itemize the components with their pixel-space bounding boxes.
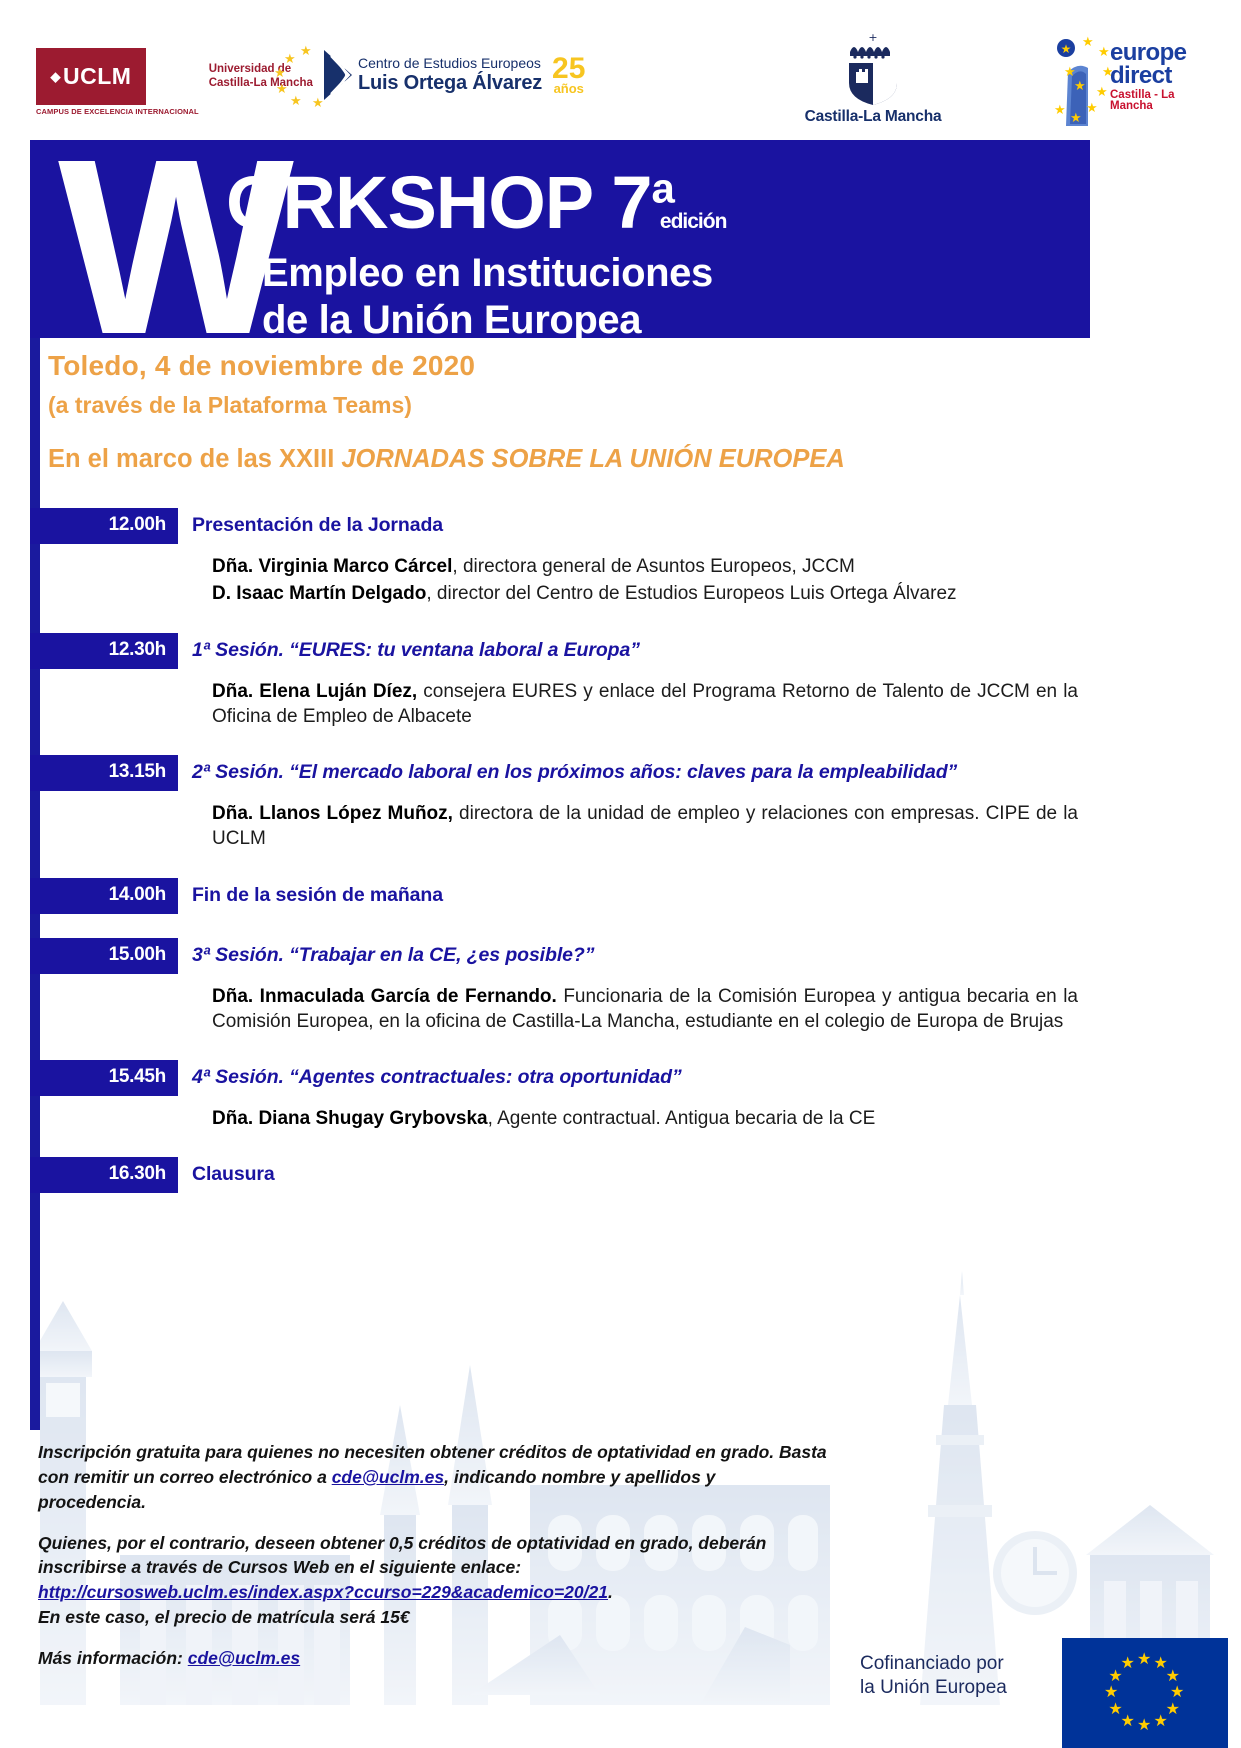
cee-text: Centro de Estudios Europeos Luis Ortega … <box>358 56 542 93</box>
speaker-name: Dña. Inmaculada García de Fernando. <box>212 986 557 1007</box>
eu-star-icon: ★ <box>1170 1685 1184 1701</box>
schedule-slot-title: Presentación de la Jornada <box>178 508 1090 544</box>
eu-cofinance-caption: Cofinanciado por la Unión Europea <box>860 1652 1060 1701</box>
svg-text:★: ★ <box>1096 85 1108 100</box>
svg-text:★: ★ <box>1070 111 1082 126</box>
cursos-web-link[interactable]: http://cursosweb.uclm.es/index.aspx?ccur… <box>38 1582 608 1602</box>
cee-anniv-word: años <box>552 83 585 95</box>
schedule-speaker-list: Dña. Virginia Marco Cárcel, directora ge… <box>212 544 1078 607</box>
uclm-wordmark: ◆ UCLM <box>36 48 146 105</box>
schedule-gap <box>30 854 1090 878</box>
speaker-role: , director del Centro de Estudios Europe… <box>426 583 956 604</box>
schedule-slot-header: 12.00h Presentación de la Jornada <box>30 508 1090 544</box>
speaker-entry: Dña. Inmaculada García de Fernando. Func… <box>212 984 1078 1035</box>
cee-line1: Centro de Estudios Europeos <box>358 56 542 71</box>
schedule-slot-1545: 15.45h 4ª Sesión. “Agentes contractuales… <box>30 1060 1090 1131</box>
uclm-caption: CAMPUS DE EXCELENCIA INTERNACIONAL <box>36 107 199 116</box>
svg-text:★: ★ <box>1061 42 1072 56</box>
eu-flag: ★★★★★★★★★★★★ <box>1062 1638 1228 1748</box>
eu-star-icon: ★ <box>1137 1718 1151 1734</box>
eu-caption-line2: la Unión Europea <box>860 1676 1060 1700</box>
tuition-price-text: En este caso, el precio de matrícula ser… <box>38 1607 410 1627</box>
page-subtitle: Empleo en Instituciones de la Unión Euro… <box>262 250 713 338</box>
schedule-slot-header: 13.15h 2ª Sesión. “El mercado laboral en… <box>30 755 1090 791</box>
schedule-time-chip: 13.15h <box>30 755 178 791</box>
schedule-slot-header: 14.00h Fin de la sesión de mañana <box>30 878 1090 914</box>
schedule-time-chip: 15.45h <box>30 1060 178 1096</box>
speaker-name: Dña. Elena Luján Díez, <box>212 681 417 702</box>
cee-anniversary-badge: 25 años <box>552 55 585 96</box>
speaker-entry: Dña. Llanos López Muñoz, directora de la… <box>212 801 1078 852</box>
schedule-gap <box>30 1133 1090 1157</box>
page-title: ORKSHOP 7aedición <box>226 166 726 240</box>
schedule-slot-title: 2ª Sesión. “El mercado laboral en los pr… <box>178 755 1090 791</box>
free-registration-lead: Inscripción gratuita <box>38 1442 200 1462</box>
eu-star-icon: ★ <box>1154 1714 1168 1730</box>
schedule-gap <box>30 609 1090 633</box>
event-date: Toledo, 4 de noviembre de 2020 <box>48 350 1088 382</box>
registration-paragraph-credits: Quienes, por el contrario, deseen obtene… <box>38 1531 828 1630</box>
svg-text:★: ★ <box>1064 65 1076 80</box>
schedule-slot-1230: 12.30h 1ª Sesión. “EURES: tu ventana lab… <box>30 633 1090 730</box>
schedule-slot-1500: 15.00h 3ª Sesión. “Trabajar en la CE, ¿e… <box>30 938 1090 1035</box>
jccm-shield-icon: + <box>836 30 910 106</box>
svg-text:★: ★ <box>1082 36 1094 50</box>
schedule-time-chip: 14.00h <box>30 878 178 914</box>
eu-star-icon: ★ <box>1108 1702 1122 1718</box>
jccm-logo: + Castilla-La Mancha <box>778 30 968 126</box>
schedule-speaker-list: Dña. Inmaculada García de Fernando. Func… <box>212 974 1078 1035</box>
svg-text:★: ★ <box>1054 103 1066 118</box>
schedule-slot-header: 15.00h 3ª Sesión. “Trabajar en la CE, ¿e… <box>30 938 1090 974</box>
frame-prefix: En el marco de las XXIII <box>48 445 341 473</box>
europe-direct-emblem-icon: ★ ★ ★ ★ ★ ★ ★ ★ ★ ★ <box>1052 36 1112 132</box>
email-link-more-info[interactable]: cde@uclm.es <box>188 1648 300 1668</box>
speaker-role: , Agente contractual. Antigua becaria de… <box>488 1108 876 1129</box>
europe-direct-line2: direct <box>1110 65 1212 88</box>
schedule-gap <box>30 1036 1090 1060</box>
speaker-entry: Dña. Virginia Marco Cárcel, directora ge… <box>212 554 1078 579</box>
schedule-slot-1200: 12.00h Presentación de la Jornada Dña. V… <box>30 508 1090 607</box>
svg-text:★: ★ <box>1098 45 1110 60</box>
speaker-entry: D. Isaac Martín Delgado, director del Ce… <box>212 581 1078 606</box>
cee-logo: ★ ★ ★ ★ ★ ★ Centro de Estudios Europeos … <box>272 44 585 106</box>
schedule-slot-1315: 13.15h 2ª Sesión. “El mercado laboral en… <box>30 755 1090 852</box>
schedule-slot-1630: 16.30h Clausura <box>30 1157 1090 1193</box>
uclm-mark-text: UCLM <box>63 63 131 90</box>
schedule-slot-header: 12.30h 1ª Sesión. “EURES: tu ventana lab… <box>30 633 1090 669</box>
eu-star-icon: ★ <box>1121 1656 1135 1672</box>
title-banner: W ORKSHOP 7aedición Empleo en Institucio… <box>30 140 1090 338</box>
svg-text:★: ★ <box>1086 101 1098 116</box>
schedule-time-chip: 12.30h <box>30 633 178 669</box>
subtitle-line1: Empleo en Instituciones <box>262 250 713 297</box>
eu-stars-arc-icon: ★ ★ ★ ★ ★ ★ <box>272 44 328 106</box>
svg-text:+: + <box>868 31 877 44</box>
cee-line2: Luis Ortega Álvarez <box>358 72 542 94</box>
speaker-name: Dña. Diana Shugay Grybovska <box>212 1108 488 1129</box>
schedule-speaker-list: Dña. Diana Shugay Grybovska, Agente cont… <box>212 1096 1078 1131</box>
schedule-slot-1400: 14.00h Fin de la sesión de mañana <box>30 878 1090 914</box>
eu-star-icon: ★ <box>1137 1652 1151 1668</box>
title-ordinal-superscript: a <box>652 164 674 211</box>
cee-anniv-number: 25 <box>552 55 585 84</box>
schedule-speaker-list: Dña. Llanos López Muñoz, directora de la… <box>212 791 1078 852</box>
schedule-gap <box>30 731 1090 755</box>
title-edition-label: edición <box>660 210 727 233</box>
eu-caption-line1: Cofinanciado por <box>860 1652 1060 1676</box>
schedule-slot-title: 3ª Sesión. “Trabajar en la CE, ¿es posib… <box>178 938 1090 974</box>
registration-paragraph-free: Inscripción gratuita para quienes no nec… <box>38 1440 828 1515</box>
schedule-slot-title: 1ª Sesión. “EURES: tu ventana laboral a … <box>178 633 1090 669</box>
more-info-paragraph: Más información: cde@uclm.es <box>38 1646 828 1671</box>
credits-tail: . <box>608 1582 613 1602</box>
schedule-slot-title: 4ª Sesión. “Agentes contractuales: otra … <box>178 1060 1090 1096</box>
speaker-role: , directora general de Asuntos Europeos,… <box>452 556 854 577</box>
schedule-slot-title: Clausura <box>178 1157 1090 1193</box>
registration-info: Inscripción gratuita para quienes no nec… <box>38 1440 828 1687</box>
credits-text: Quienes, por el contrario, deseen obtene… <box>38 1533 766 1578</box>
event-meta: Toledo, 4 de noviembre de 2020 (a través… <box>48 350 1088 419</box>
europe-direct-region: Castilla - La Mancha <box>1110 90 1212 112</box>
schedule-list: 12.00h Presentación de la Jornada Dña. V… <box>30 508 1090 1193</box>
event-platform: (a través de la Plataforma Teams) <box>48 392 1088 419</box>
eu-star-icon: ★ <box>1166 1669 1180 1685</box>
schedule-slot-header: 16.30h Clausura <box>30 1157 1090 1193</box>
schedule-slot-header: 15.45h 4ª Sesión. “Agentes contractuales… <box>30 1060 1090 1096</box>
speaker-name: D. Isaac Martín Delgado <box>212 583 426 604</box>
subtitle-line2: de la Unión Europea <box>262 297 713 338</box>
svg-text:★: ★ <box>1074 79 1086 94</box>
eu-flag-field: ★★★★★★★★★★★★ <box>1062 1638 1228 1748</box>
schedule-gap <box>30 914 1090 938</box>
schedule-time-chip: 12.00h <box>30 508 178 544</box>
speaker-name: Dña. Virginia Marco Cárcel <box>212 556 452 577</box>
speaker-name: Dña. Llanos López Muñoz, <box>212 803 453 824</box>
more-info-label: Más información: <box>38 1648 188 1668</box>
jccm-label: Castilla-La Mancha <box>778 108 968 126</box>
eu-star-icon: ★ <box>1104 1685 1118 1701</box>
schedule-time-chip: 16.30h <box>30 1157 178 1193</box>
title-main-text: ORKSHOP 7 <box>226 161 652 244</box>
schedule-slot-title: Fin de la sesión de mañana <box>178 878 1090 914</box>
diamond-icon: ◆ <box>51 69 62 85</box>
email-link-cde[interactable]: cde@uclm.es <box>332 1467 444 1487</box>
speaker-entry: Dña. Diana Shugay Grybovska, Agente cont… <box>212 1106 1078 1131</box>
schedule-speaker-list: Dña. Elena Luján Díez, consejera EURES y… <box>212 669 1078 730</box>
header-logo-bar: ◆ UCLM CAMPUS DE EXCELENCIA INTERNACIONA… <box>0 0 1241 140</box>
europe-direct-logo: ★ ★ ★ ★ ★ ★ ★ ★ ★ ★ europe direct Castil… <box>1052 36 1212 132</box>
schedule-time-chip: 15.00h <box>30 938 178 974</box>
event-frame-note: En el marco de las XXIII JORNADAS SOBRE … <box>48 445 1108 474</box>
cee-fan-icon <box>322 48 354 102</box>
frame-italic: JORNADAS SOBRE LA UNIÓN EUROPEA <box>341 445 844 473</box>
speaker-entry: Dña. Elena Luján Díez, consejera EURES y… <box>212 679 1078 730</box>
